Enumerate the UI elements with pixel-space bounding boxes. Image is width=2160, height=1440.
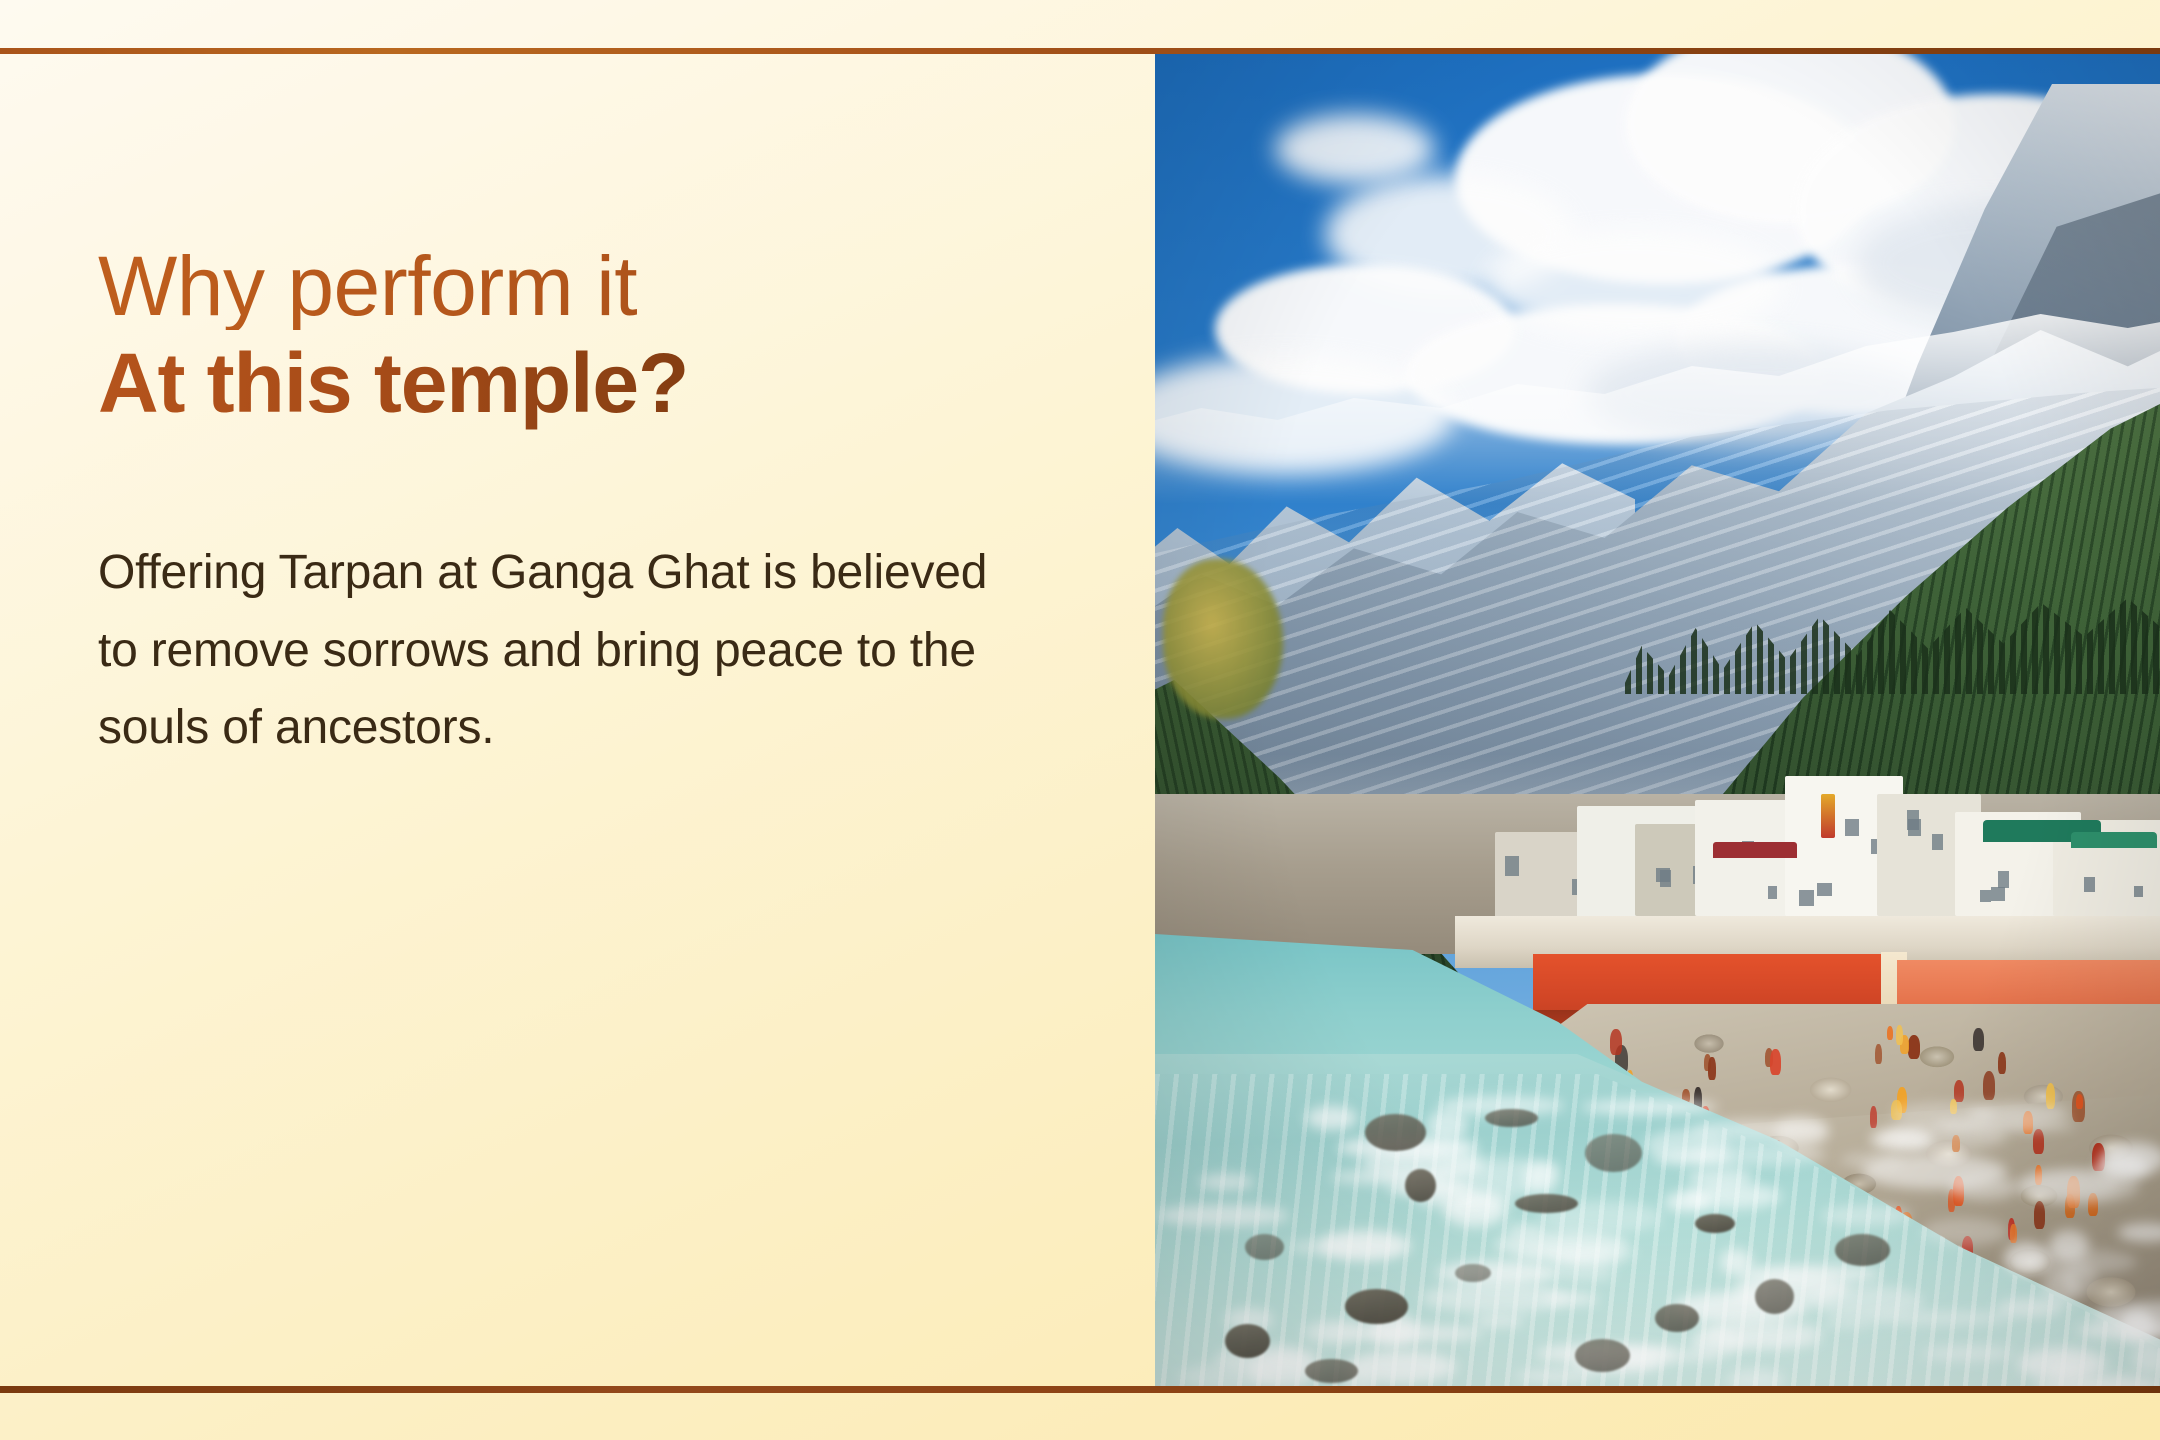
cloud-shape bbox=[1275, 114, 1435, 184]
building-window bbox=[1845, 819, 1859, 836]
slide-canvas: Why perform it At this temple? Offering … bbox=[0, 0, 2160, 1440]
headline-line-2: At this temple? bbox=[98, 336, 1032, 430]
wet-boulder bbox=[1655, 1304, 1699, 1332]
wet-boulder bbox=[1515, 1194, 1578, 1213]
building-window bbox=[1505, 856, 1519, 875]
wet-boulder bbox=[1695, 1214, 1735, 1233]
wet-boulder bbox=[1575, 1339, 1630, 1372]
ganga-ghat-photo bbox=[1155, 54, 2160, 1386]
wet-boulder bbox=[1365, 1114, 1426, 1151]
wet-boulder bbox=[1835, 1234, 1890, 1266]
building-window bbox=[1799, 890, 1815, 906]
building-window bbox=[1980, 890, 1991, 902]
wet-boulder bbox=[1585, 1134, 1642, 1172]
building-window bbox=[1991, 887, 2005, 902]
headline-line-1: Why perform it bbox=[98, 244, 1032, 330]
building-window bbox=[1768, 886, 1777, 899]
wet-boulder bbox=[1225, 1324, 1270, 1358]
wet-boulder bbox=[1305, 1359, 1358, 1383]
pilgrim-figure bbox=[1896, 1025, 1903, 1045]
headline-block: Why perform it At this temple? bbox=[98, 244, 1032, 430]
pilgrim-figure bbox=[1887, 1026, 1893, 1040]
wet-boulder bbox=[1405, 1169, 1436, 1202]
building-window bbox=[1998, 871, 2009, 888]
building-window bbox=[1932, 834, 1943, 851]
wet-boulder bbox=[1245, 1234, 1284, 1260]
wet-boulder bbox=[1755, 1279, 1794, 1314]
green-roof bbox=[2071, 832, 2157, 848]
building-window bbox=[1660, 870, 1671, 887]
building-window bbox=[2084, 877, 2095, 892]
wet-boulder bbox=[1455, 1264, 1491, 1282]
body-paragraph: Offering Tarpan at Ganga Ghat is believe… bbox=[98, 534, 998, 767]
wet-boulder bbox=[1345, 1289, 1408, 1324]
pilgrim-figure bbox=[1610, 1029, 1621, 1054]
building-window bbox=[1907, 810, 1919, 830]
wet-rocks-group bbox=[1155, 1074, 2160, 1386]
temple-banner bbox=[1821, 794, 1835, 838]
wet-boulder bbox=[1485, 1109, 1538, 1127]
text-panel: Why perform it At this temple? Offering … bbox=[0, 54, 1152, 1386]
cloud-shape bbox=[1485, 229, 1785, 339]
top-accent-rule bbox=[0, 48, 2160, 54]
building-window bbox=[2134, 886, 2143, 897]
pilgrim-figure bbox=[1973, 1028, 1983, 1051]
bottom-accent-rule bbox=[0, 1386, 2160, 1393]
photo-stage bbox=[1155, 54, 2160, 1386]
building-window bbox=[1817, 883, 1833, 897]
red-roof bbox=[1713, 842, 1797, 858]
